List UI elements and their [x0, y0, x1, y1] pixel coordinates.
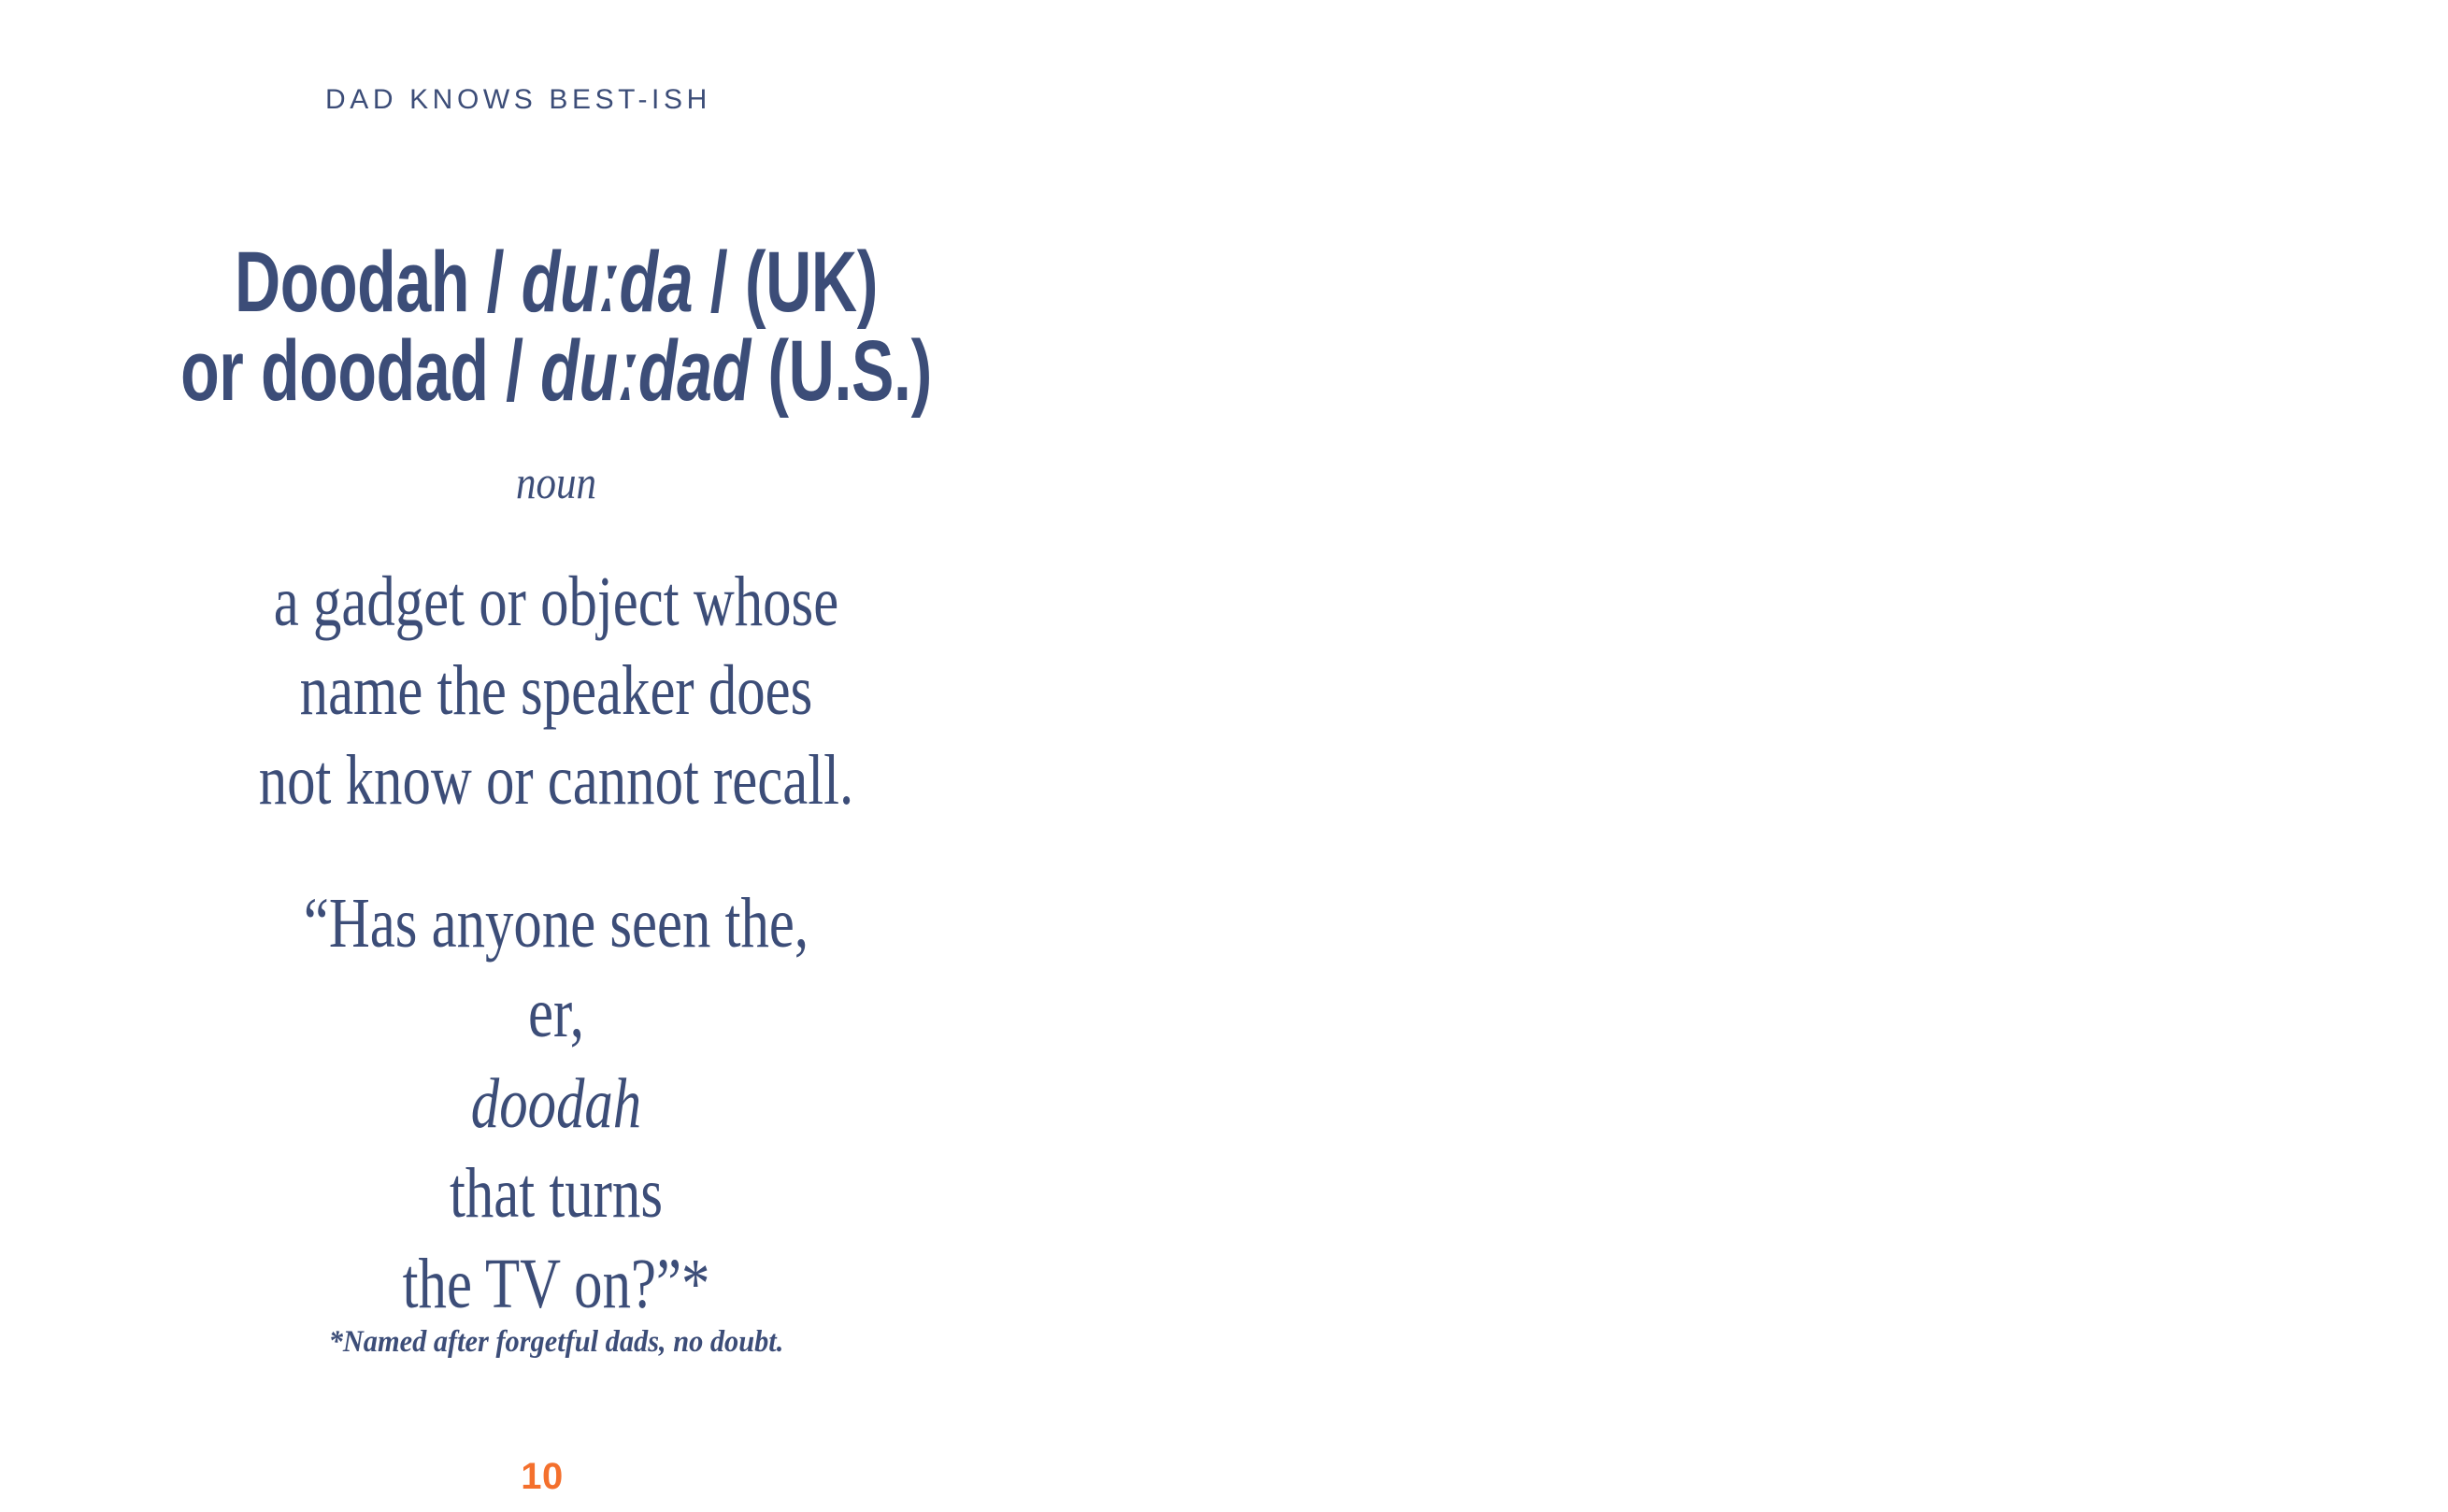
- example-line: the TV on?”*: [141, 1239, 971, 1330]
- book-spread: DAD KNOWS BEST-ISH Doodah / duːda / (UK)…: [0, 0, 2448, 1512]
- definition-line: not know or cannot recall.: [141, 736, 971, 826]
- example-term: doodah: [471, 1064, 641, 1143]
- example-quote: “Has anyone seen the, er, doodah that tu…: [141, 878, 971, 1330]
- example-pre: er,: [141, 968, 971, 1059]
- headword: Doodah / duːda / (UK) or doodad / duːdad…: [172, 238, 939, 416]
- definition-text: a gadget or object whose name the speake…: [141, 558, 971, 826]
- running-head: DAD KNOWS BEST-ISH: [325, 84, 711, 116]
- definition-line: name the speaker does: [141, 647, 971, 736]
- example-line: “Has anyone seen the,: [141, 878, 971, 969]
- headword-word-us: or doodad /: [180, 323, 540, 419]
- part-of-speech: noun: [110, 455, 1003, 509]
- headword-region-uk: / (UK): [693, 235, 878, 330]
- headword-ipa-us: duːdad: [540, 323, 751, 419]
- definition-line: a gadget or object whose: [141, 558, 971, 648]
- headword-word-uk: Doodah /: [235, 235, 522, 330]
- footnote-left: *Named after forgetful dads, no doubt.: [79, 1325, 1033, 1360]
- dictionary-entry: Doodah / duːda / (UK) or doodad / duːdad…: [37, 238, 1075, 1329]
- headword-region-us: (U.S.): [751, 323, 932, 419]
- page-left: DAD KNOWS BEST-ISH Doodah / duːda / (UK)…: [0, 0, 1224, 1512]
- page-right: In the 1970s, only six U.S. men identifi…: [1224, 0, 2448, 1512]
- page-number-left: 10: [467, 1456, 617, 1498]
- headword-ipa-uk: duːda: [522, 235, 693, 330]
- example-post: that turns: [141, 1148, 971, 1239]
- example-line: er, doodah that turns: [141, 968, 971, 1239]
